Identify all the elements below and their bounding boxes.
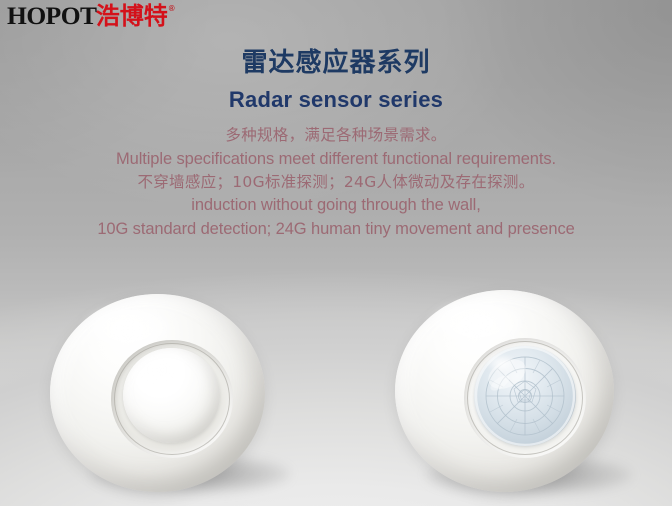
lens-specular-highlight [138,357,176,383]
promo-banner: HOPOT 浩博特 ® 雷达感应器系列 Radar sensor series … [0,0,672,506]
brand-logo: HOPOT 浩博特 ® [7,4,175,29]
brand-logo-chinese: 浩博特 [96,4,168,28]
page-title-chinese: 雷达感应器系列 [0,47,672,80]
description-line-3: 不穿墙感应；10G标准探测；24G人体微动及存在探测。 [0,171,672,194]
description-line-4: induction without going through the wall… [0,193,672,217]
lens-specular-highlight [488,355,514,371]
description-block: 多种规格，满足各种场景需求。 Multiple specifications m… [0,124,672,241]
registered-trademark-icon: ® [169,5,175,13]
description-line-2: Multiple specifications meet different f… [0,147,672,171]
product-image-radar-sensor-smooth-dome [34,286,284,504]
page-title-english: Radar sensor series [0,87,672,113]
product-image-radar-sensor-fresnel-dome [382,282,632,504]
description-line-1: 多种规格，满足各种场景需求。 [0,124,672,147]
brand-logo-latin: HOPOT [7,4,97,29]
description-line-5: 10G standard detection; 24G human tiny m… [0,217,672,241]
page-title-block: 雷达感应器系列 Radar sensor series [0,47,672,113]
